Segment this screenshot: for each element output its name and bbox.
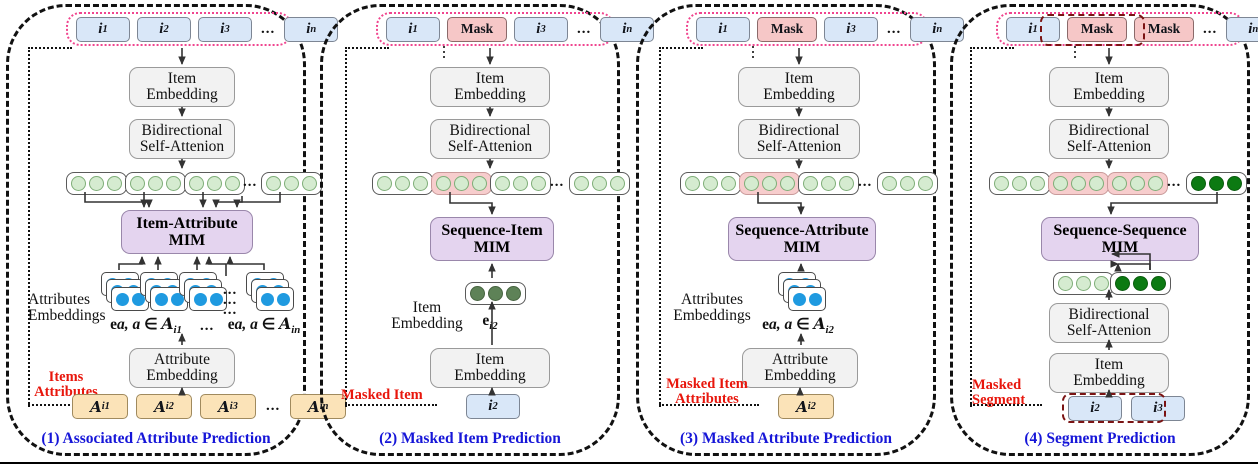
panel4-annotation: Masked Segment xyxy=(972,378,1052,408)
bidirectional-line1: Bidirectional xyxy=(1069,307,1150,323)
ellipsis: ... xyxy=(885,21,903,38)
panel4-hidden-state-dark xyxy=(1186,172,1247,195)
panel2-mim-block: Sequence-Item MIM xyxy=(430,217,554,261)
hidden-dot xyxy=(1076,276,1091,291)
annotation-line1: Masked xyxy=(972,378,1052,393)
hidden-dot xyxy=(1094,276,1109,291)
panel1-hidden-state xyxy=(184,172,245,195)
panel1-bottom-sequence: Ai1 Ai2 Ai3 ... Ain xyxy=(72,394,346,419)
annotation-line1: Masked Item xyxy=(655,377,759,392)
hidden-dot xyxy=(1071,176,1086,191)
hidden-dot xyxy=(454,176,469,191)
bidirectional-line1: Bidirectional xyxy=(1069,123,1150,139)
bidirectional-line2: Self-Attenion xyxy=(140,139,224,155)
panel1-stack-label-last: ea, a ∈ Ain xyxy=(216,316,312,336)
hidden-dot xyxy=(395,176,410,191)
hidden-dot xyxy=(821,176,836,191)
item-embedding-line2: Embedding xyxy=(1073,87,1144,103)
hidden-dot xyxy=(472,176,487,191)
panel1-input-sequence: i1 i2 i3 ... in xyxy=(66,12,292,46)
hidden-dot xyxy=(1030,176,1045,191)
attributes-label-line1: Attributes xyxy=(28,292,98,308)
embedding-dot xyxy=(488,286,503,301)
input-token[interactable]: i2 xyxy=(137,17,191,42)
panel2-embedding-label: ei2 xyxy=(460,313,520,332)
hidden-dot xyxy=(592,176,607,191)
hidden-dot xyxy=(413,176,428,191)
hidden-dot-dark xyxy=(1191,176,1206,191)
input-token[interactable]: i1 xyxy=(386,17,440,42)
annotation-line1: Items xyxy=(24,370,108,385)
hidden-dot-dark xyxy=(1115,276,1130,291)
hidden-dot xyxy=(1012,176,1027,191)
panel3-hidden-state xyxy=(877,172,938,195)
panel1-stack-label-first: ea, a ∈ Ai1 xyxy=(96,316,196,336)
hidden-dot xyxy=(266,176,281,191)
hidden-dot xyxy=(513,176,528,191)
attribute-token[interactable]: Ai2 xyxy=(136,394,192,419)
hidden-dot xyxy=(166,176,181,191)
ellipsis: ... xyxy=(575,21,593,38)
mim-title: Item-Attribute xyxy=(136,215,237,232)
ellipsis: ... xyxy=(1201,21,1219,38)
bidirectional-line1: Bidirectional xyxy=(450,123,531,139)
item-embedding-line1: Item xyxy=(1095,71,1123,87)
mim-title: Sequence-Item xyxy=(441,222,542,239)
figure-canvas: i1 i2 i3 ... in Item Embedding Bidirecti… xyxy=(0,0,1258,464)
panel4-segment-hidden-light xyxy=(1053,272,1114,295)
hidden-dot xyxy=(377,176,392,191)
ellipsis: ... xyxy=(198,318,216,335)
panel3-embedding-label: ea, a ∈ Ai2 xyxy=(740,316,856,336)
panel1-caption: (1) Associated Attribute Prediction xyxy=(6,430,306,448)
hidden-dot xyxy=(1148,176,1163,191)
panel1-hidden-state xyxy=(66,172,127,195)
panel2-bottom-item-embedding: Item Embedding xyxy=(430,348,550,388)
side-label-line2: Embedding xyxy=(382,316,472,332)
hidden-dot-dark xyxy=(1151,276,1166,291)
item-embedding-line1: Item xyxy=(168,71,196,87)
panel1-hidden-state xyxy=(261,172,322,195)
panel1-mim-block: Item-Attribute MIM xyxy=(121,210,253,254)
item-embedding-line1: Item xyxy=(476,71,504,87)
mim-subtitle: MIM xyxy=(169,232,205,249)
panel3-hidden-state xyxy=(680,172,741,195)
hidden-dot xyxy=(839,176,854,191)
hidden-dot xyxy=(107,176,122,191)
mask-token[interactable]: Mask xyxy=(757,17,817,42)
panel4-bottom-item-embedding: Item Embedding xyxy=(1049,353,1169,393)
hidden-dot-dark xyxy=(1209,176,1224,191)
mim-subtitle: MIM xyxy=(474,239,510,256)
panel2-dotted-arrow xyxy=(345,404,437,406)
panel1-hidden-state xyxy=(125,172,186,195)
panel2-hidden-state xyxy=(372,172,433,195)
mim-title: Sequence-Sequence xyxy=(1053,222,1186,239)
panel3-bidirectional-self-attention: Bidirectional Self-Attenion xyxy=(738,119,860,159)
hidden-dot xyxy=(531,176,546,191)
input-token[interactable]: i3 xyxy=(198,17,252,42)
item-embedding-line2: Embedding xyxy=(763,87,834,103)
panel4-caption: (4) Segment Prediction xyxy=(950,430,1250,448)
hidden-dot xyxy=(721,176,736,191)
hidden-dot xyxy=(1058,276,1073,291)
bidirectional-line1: Bidirectional xyxy=(759,123,840,139)
panel4-masked-segment-outline-bottom xyxy=(1062,393,1166,423)
hidden-dot xyxy=(1053,176,1068,191)
hidden-dot xyxy=(302,176,317,191)
panel3-hidden-state-masked xyxy=(739,172,800,195)
panel1-item-embedding: Item Embedding xyxy=(129,67,235,107)
attribute-card xyxy=(256,287,294,311)
ellipsis: ... xyxy=(548,174,566,191)
bidirectional-line2: Self-Attenion xyxy=(1067,323,1151,339)
attribute-token[interactable]: Ai1 xyxy=(72,394,128,419)
panel4-masked-segment-outline-top xyxy=(1040,14,1145,46)
ellipsis: ... xyxy=(856,174,874,191)
attribute-dot xyxy=(261,293,274,306)
attribute-dot xyxy=(116,293,129,306)
input-token[interactable]: i1 xyxy=(76,17,130,42)
mim-subtitle: MIM xyxy=(1102,239,1138,256)
hidden-dot xyxy=(495,176,510,191)
ellipsis: ... xyxy=(241,174,259,191)
attribute-embedding-line1: Attribute xyxy=(154,352,210,368)
embedding-dot xyxy=(470,286,485,301)
hidden-dot xyxy=(762,176,777,191)
panel4-bottom-bidirectional: Bidirectional Self-Attenion xyxy=(1049,303,1169,343)
panel1-attributes-embeddings-label: Attributes Embeddings xyxy=(28,292,98,325)
attribute-dot xyxy=(809,293,822,306)
hidden-dot xyxy=(1112,176,1127,191)
attribute-dot xyxy=(277,293,290,306)
input-token[interactable]: i3 xyxy=(514,17,568,42)
attributes-label-line1: Attributes xyxy=(668,292,756,308)
side-label-line1: Item xyxy=(382,300,472,316)
attribute-dot xyxy=(793,293,806,306)
hidden-dot xyxy=(780,176,795,191)
bidirectional-line2: Self-Attenion xyxy=(1067,139,1151,155)
hidden-dot xyxy=(436,176,451,191)
hidden-dot xyxy=(918,176,933,191)
hidden-dot xyxy=(89,176,104,191)
input-token[interactable]: i1 xyxy=(696,17,750,42)
mask-token[interactable]: Mask xyxy=(447,17,507,42)
hidden-dot xyxy=(130,176,145,191)
hidden-dot xyxy=(882,176,897,191)
hidden-dot xyxy=(703,176,718,191)
hidden-dot-dark xyxy=(1133,276,1148,291)
hidden-dot xyxy=(574,176,589,191)
hidden-dot xyxy=(803,176,818,191)
input-token[interactable]: i3 xyxy=(824,17,878,42)
attribute-card xyxy=(788,287,826,311)
hidden-dot xyxy=(1089,176,1104,191)
item-token[interactable]: i2 xyxy=(466,394,520,419)
item-embedding-line1: Item xyxy=(476,352,504,368)
panel3-attribute-stack xyxy=(778,272,824,312)
bidirectional-line1: Bidirectional xyxy=(142,123,223,139)
panel3-mim-block: Sequence-Attribute MIM xyxy=(728,217,876,261)
panel2-hidden-state-masked xyxy=(431,172,492,195)
panel1-attribute-stack xyxy=(246,272,292,312)
hidden-dot xyxy=(225,176,240,191)
panel2-item-embedding-vector xyxy=(465,282,526,305)
panel4-hidden-state-masked xyxy=(1107,172,1168,195)
item-embedding-line1: Item xyxy=(785,71,813,87)
panel1-attribute-stack xyxy=(179,272,225,312)
panel4-mim-block: Sequence-Sequence MIM xyxy=(1041,217,1199,261)
attributes-label-line2: Embeddings xyxy=(28,308,98,324)
panel1-dotted-arrow xyxy=(28,404,74,406)
hidden-dot xyxy=(744,176,759,191)
hidden-dot xyxy=(610,176,625,191)
embedding-dot xyxy=(506,286,521,301)
mim-title: Sequence-Attribute xyxy=(735,222,868,239)
panel4-segment-hidden-dark xyxy=(1110,272,1171,295)
attribute-token[interactable]: Ai2 xyxy=(778,394,834,419)
panel2-hidden-state xyxy=(569,172,630,195)
annotation-line2: Attributes xyxy=(655,392,759,407)
item-embedding-line2: Embedding xyxy=(454,368,525,384)
panel4-item-embedding: Item Embedding xyxy=(1049,67,1169,107)
hidden-dot xyxy=(685,176,700,191)
panel3-caption: (3) Masked Attribute Prediction xyxy=(636,430,936,448)
mim-subtitle: MIM xyxy=(784,239,820,256)
attribute-embedding-line2: Embedding xyxy=(146,368,217,384)
panel1-bidirectional-self-attention: Bidirectional Self-Attenion xyxy=(129,119,235,159)
panel2-bottom-sequence: i2 xyxy=(466,394,520,419)
attribute-embedding-line1: Attribute xyxy=(772,352,828,368)
panel3-bottom-sequence: Ai2 xyxy=(778,394,834,419)
bidirectional-line2: Self-Attenion xyxy=(757,139,841,155)
panel2-caption: (2) Masked Item Prediction xyxy=(320,430,620,448)
bidirectional-line2: Self-Attenion xyxy=(448,139,532,155)
panel2-side-label: Item Embedding xyxy=(382,300,472,333)
panel2-item-embedding: Item Embedding xyxy=(430,67,550,107)
item-embedding-line2: Embedding xyxy=(454,87,525,103)
panel3-input-sequence: i1 Mask i3 ... in xyxy=(686,12,928,46)
hidden-dot xyxy=(1130,176,1145,191)
hidden-dot xyxy=(71,176,86,191)
item-embedding-line1: Item xyxy=(1095,357,1123,373)
panel4-hidden-state xyxy=(989,172,1050,195)
hidden-dot xyxy=(189,176,204,191)
hidden-dot xyxy=(148,176,163,191)
attribute-embedding-line2: Embedding xyxy=(764,368,835,384)
hidden-dot xyxy=(900,176,915,191)
attribute-dot xyxy=(155,293,168,306)
ellipsis: ... xyxy=(259,21,277,38)
panel2-annotation: Masked Item xyxy=(341,388,445,403)
panel2-input-sequence: i1 Mask i3 ... in xyxy=(376,12,614,46)
panel3-annotation: Masked Item Attributes xyxy=(655,377,759,407)
annotation-line2: Segment xyxy=(972,393,1052,408)
panel3-hidden-state xyxy=(798,172,859,195)
hidden-dot-dark xyxy=(1227,176,1242,191)
panel4-bidirectional-self-attention: Bidirectional Self-Attenion xyxy=(1049,119,1169,159)
hidden-dot xyxy=(994,176,1009,191)
input-token[interactable]: in xyxy=(1226,17,1258,42)
panel2-bidirectional-self-attention: Bidirectional Self-Attenion xyxy=(430,119,550,159)
ellipsis: ... xyxy=(264,398,282,415)
panel1-attribute-embedding: Attribute Embedding xyxy=(129,348,235,388)
panel2-hidden-state xyxy=(490,172,551,195)
panel3-attribute-embedding: Attribute Embedding xyxy=(742,348,858,388)
panel4-hidden-state-masked xyxy=(1048,172,1109,195)
panel3-item-embedding: Item Embedding xyxy=(738,67,860,107)
ellipsis: ... xyxy=(1165,174,1183,191)
hidden-dot xyxy=(207,176,222,191)
hidden-dot xyxy=(284,176,299,191)
item-embedding-line2: Embedding xyxy=(146,87,217,103)
item-embedding-line2: Embedding xyxy=(1073,373,1144,389)
attribute-dot xyxy=(194,293,207,306)
attribute-token[interactable]: Ai3 xyxy=(200,394,256,419)
